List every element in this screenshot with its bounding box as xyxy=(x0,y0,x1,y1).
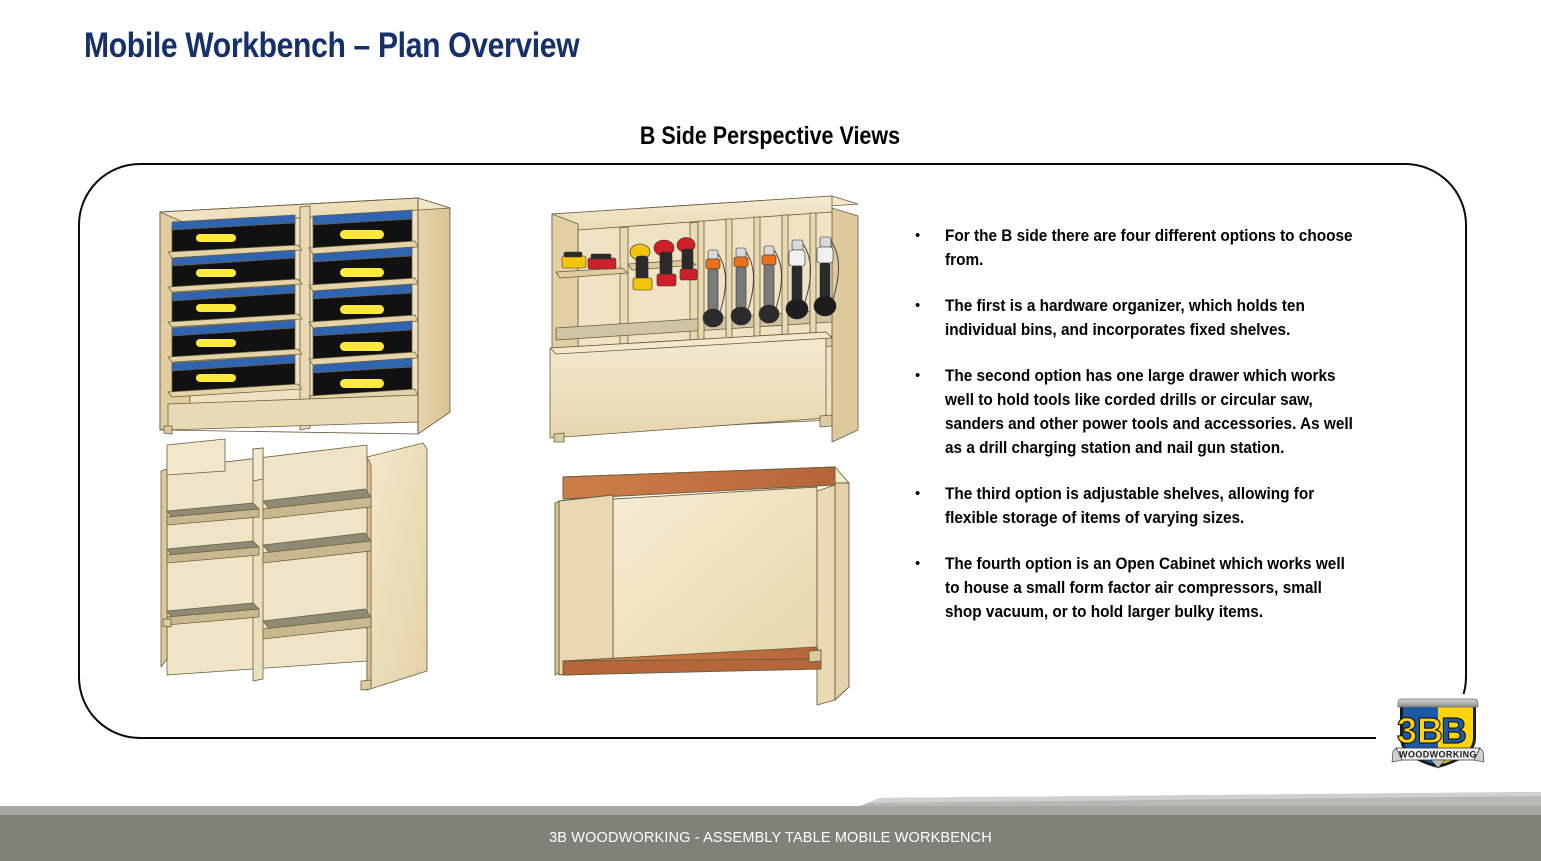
drawing-open-cabinet xyxy=(545,455,875,715)
list-item: • The second option has one large drawer… xyxy=(905,364,1385,460)
logo-banner-text: WOODWORKING xyxy=(1399,750,1477,760)
list-item: • The first is a hardware organizer, whi… xyxy=(905,294,1385,342)
list-item: • The third option is adjustable shelves… xyxy=(905,482,1385,530)
bin-group-right xyxy=(309,210,418,402)
bullet-text: The first is a hardware organizer, which… xyxy=(945,294,1354,342)
bullet-text: For the B side there are four different … xyxy=(945,224,1354,272)
bullet-text: The second option has one large drawer w… xyxy=(945,364,1354,460)
logo-mark-text: 3B xyxy=(1397,710,1443,751)
bullet-text: The third option is adjustable shelves, … xyxy=(945,482,1354,530)
bullet-marker-icon: • xyxy=(905,294,945,342)
bullet-marker-icon: • xyxy=(905,552,945,624)
drawing-adjustable-shelves xyxy=(155,435,465,705)
bin-group-left xyxy=(168,215,302,397)
footer-bar-highlight xyxy=(0,806,1541,815)
list-item: • The fourth option is an Open Cabinet w… xyxy=(905,552,1385,624)
drawing-large-drawer xyxy=(540,190,880,450)
bullet-marker-icon: • xyxy=(905,364,945,460)
brand-logo-3b-woodworking: 3B B WOODWORKING xyxy=(1390,694,1486,774)
bullet-marker-icon: • xyxy=(905,224,945,272)
slide-canvas: Mobile Workbench – Plan Overview B Side … xyxy=(0,0,1541,861)
section-title: B Side Perspective Views xyxy=(0,122,1541,151)
page-title: Mobile Workbench – Plan Overview xyxy=(84,26,579,66)
bullet-text: The fourth option is an Open Cabinet whi… xyxy=(945,552,1354,624)
bullet-marker-icon: • xyxy=(905,482,945,530)
drawing-hardware-organizer xyxy=(150,190,460,440)
bullet-list: • For the B side there are four differen… xyxy=(905,224,1385,646)
footer-text: 3B WOODWORKING - ASSEMBLY TABLE MOBILE W… xyxy=(0,815,1541,861)
list-item: • For the B side there are four differen… xyxy=(905,224,1385,272)
svg-text:B: B xyxy=(1441,710,1467,751)
